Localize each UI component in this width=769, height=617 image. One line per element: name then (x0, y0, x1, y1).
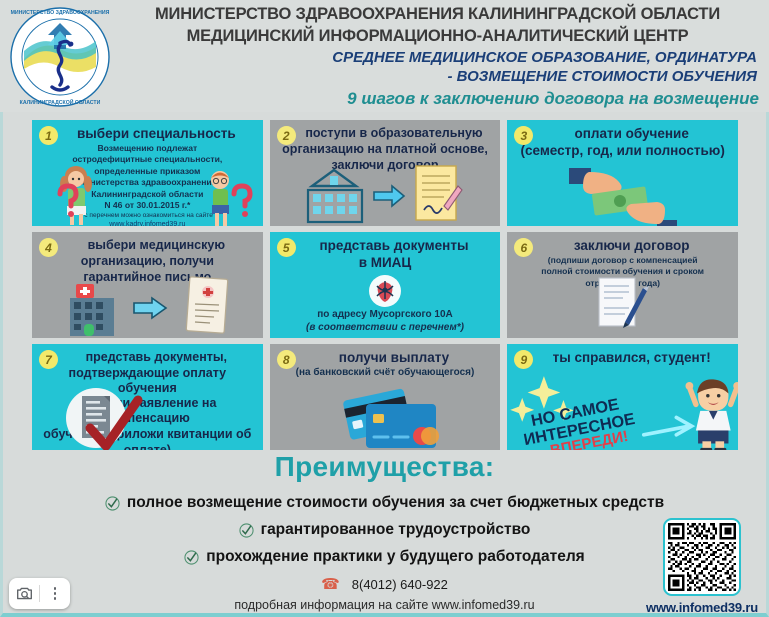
two-students-with-question-marks-icon (32, 164, 262, 226)
step-title-line-1: представь документы, (38, 350, 257, 365)
check-circle-icon (105, 496, 120, 511)
receipt-and-red-checkmark-icon (32, 388, 262, 450)
step-card-3: 3 оплати обучение (семестр, год, или пол… (507, 120, 738, 226)
two-bank-cards-icon (270, 388, 500, 450)
check-circle-icon (184, 550, 199, 565)
check-circle-icon (239, 523, 254, 538)
lens-camera-search-icon (16, 585, 33, 602)
step-title: ты справился, студент! (513, 350, 732, 366)
telephone-icon: ☎ (321, 577, 340, 592)
header-text-block: МИНИСТЕРСТВО ЗДРАВООХРАНЕНИЯ КАЛИНИНГРАД… (112, 4, 763, 109)
hospital-arrow-guarantee-letter-icon (32, 276, 262, 338)
step-number-badge: 8 (277, 350, 296, 369)
hands-exchanging-money-icon (507, 164, 737, 226)
phone-number[interactable]: 8(4012) 640-922 (352, 577, 448, 592)
step-card-6: 6 заключи договор (подпиши договор с ком… (507, 232, 738, 338)
advantage-text: гарантированное трудоустройство (261, 521, 531, 539)
step-sub-1: Возмещению подлежат (38, 143, 257, 153)
lens-more-options-button[interactable] (40, 578, 70, 609)
college-building-arrow-contract-icon (270, 164, 500, 226)
subtitle-line-1: СРЕДНЕЕ МЕДИЦИНСКОЕ ОБРАЗОВАНИЕ, ОРДИНАТ… (112, 48, 763, 68)
step-card-9: 9 ты справился, студент! НО САМОЕ ИНТЕРЕ… (507, 344, 738, 450)
steps-grid: 1 выбери специальность Возмещению подлеж… (32, 120, 738, 450)
step-sub-1: (подпиши договор с компенсацией (513, 255, 732, 265)
step-title: заключи договор (513, 238, 732, 254)
step-title: выбери специальность (38, 126, 257, 142)
step-title-line-2: (семестр, год, или полностью) (513, 143, 732, 159)
step-card-5: 5 представь документы в МИАЦ по адресу М… (270, 232, 501, 338)
step-card-4: 4 выбери медицинскую организацию, получи… (32, 232, 263, 338)
step-title-line-1: получи выплату (276, 350, 495, 366)
qr-code-icon[interactable] (663, 518, 741, 596)
ministry-title-line-2: МЕДИЦИНСКИЙ ИНФОРМАЦИОННО-АНАЛИТИЧЕСКИЙ … (112, 26, 763, 48)
step-card-8: 8 получи выплату (на банковский счёт обу… (270, 344, 501, 450)
step-title-line-1: выбери медицинскую (38, 238, 257, 253)
more-options-icon (54, 587, 57, 600)
step-address: по адресу Мусоргского 10А (276, 309, 495, 321)
advantage-text: полное возмещение стоимости обучения за … (127, 494, 664, 512)
svg-text:КАЛИНИНГРАДСКОЙ ОБЛАСТИ: КАЛИНИНГРАДСКОЙ ОБЛАСТИ (20, 98, 101, 106)
ministry-title-line-1: МИНИСТЕРСТВО ЗДРАВООХРАНЕНИЯ КАЛИНИНГРАД… (112, 4, 763, 26)
advantage-text: прохождение практики у будущего работода… (206, 548, 584, 566)
qr-block: www.infomed39.ru (643, 518, 761, 615)
steps-tagline: 9 шагов к заключению договора на возмеще… (112, 88, 763, 109)
step-card-2: 2 поступи в образовательную организацию … (270, 120, 501, 226)
cheering-student-stars-arrow-icon: НО САМОЕ ИНТЕРЕСНОЕ ВПЕРЕДИ! (507, 374, 738, 450)
lens-overlay-toolbar[interactable] (9, 578, 70, 609)
subtitle-line-2: - ВОЗМЕЩЕНИЕ СТОИМОСТИ ОБУЧЕНИЯ (112, 67, 763, 87)
step-number-badge: 5 (277, 238, 296, 257)
lens-search-button[interactable] (9, 578, 39, 609)
infographic-page: МИНИСТЕРСТВО ЗДРАВООХРАНЕНИЯ КАЛИНИНГРАД… (0, 0, 769, 617)
contract-with-pen-icon (507, 276, 737, 338)
step-title-line-1: оплати обучение (513, 126, 732, 142)
step-card-7: 7 представь документы, подтверждающие оп… (32, 344, 263, 450)
step-number-badge: 2 (277, 126, 296, 145)
qr-site-label[interactable]: www.infomed39.ru (643, 600, 761, 615)
step-title-line-1: поступи в образовательную (276, 126, 495, 141)
header: МИНИСТЕРСТВО ЗДРАВООХРАНЕНИЯ КАЛИНИНГРАД… (0, 0, 769, 112)
step-title-line-2: (на банковский счёт обучающегося) (276, 367, 495, 379)
miac-emblem-icon (368, 274, 402, 308)
step-title-line-2: в МИАЦ (276, 255, 495, 271)
advantages-title: Преимущества: (0, 452, 769, 481)
step-title-line-1: представь документы (276, 238, 495, 254)
ministry-logo-icon: МИНИСТЕРСТВО ЗДРАВООХРАНЕНИЯ КАЛИНИНГРАД… (8, 5, 112, 109)
step-card-1: 1 выбери специальность Возмещению подлеж… (32, 120, 263, 226)
svg-text:МИНИСТЕРСТВО ЗДРАВООХРАНЕНИЯ: МИНИСТЕРСТВО ЗДРАВООХРАНЕНИЯ (11, 10, 110, 16)
step-number-badge: 9 (514, 350, 533, 369)
step-address-note: (в соответствии с перечнем*) (276, 322, 495, 334)
step-number-badge: 7 (39, 350, 58, 369)
step-number-badge: 1 (39, 126, 58, 145)
step-number-badge: 4 (39, 238, 58, 257)
step-title-line-2: организацию, получи (38, 254, 257, 269)
step-title-line-2: организацию на платной основе, (276, 142, 495, 157)
advantage-item-1: полное возмещение стоимости обучения за … (0, 494, 769, 512)
